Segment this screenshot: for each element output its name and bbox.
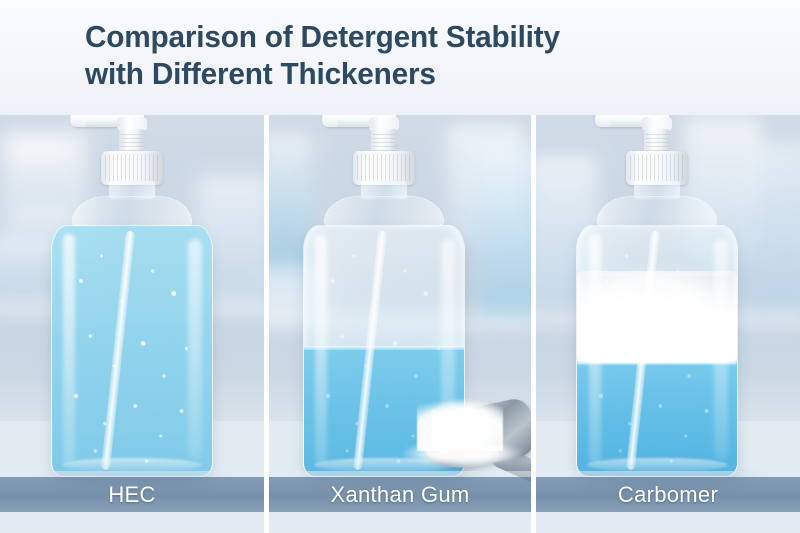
header-banner: Comparison of Detergent Stability with D…: [0, 0, 800, 115]
bottle-base-ring: [62, 458, 203, 472]
white-powder: [417, 397, 503, 451]
panel-hec[interactable]: HEC: [0, 115, 264, 533]
pump-bottle-hec[interactable]: [51, 225, 213, 477]
caption-bottom-highlight: [0, 512, 264, 519]
bottle-shoulder: [324, 196, 444, 227]
page-title: Comparison of Detergent Stability with D…: [85, 18, 709, 92]
pump-stem: [644, 129, 670, 153]
caption-bottom-highlight: [269, 512, 531, 519]
caption-label: Xanthan Gum: [330, 482, 469, 508]
pump-stem: [371, 129, 397, 153]
caption-hec: HEC: [0, 477, 264, 512]
glass-highlight-right: [714, 239, 728, 459]
panel-strip: HEC: [0, 115, 800, 533]
spilled-powder: [403, 445, 523, 467]
caption-label: HEC: [108, 482, 155, 508]
pump-collar: [101, 151, 163, 185]
glass-highlight-left: [63, 234, 75, 464]
glass-highlight-left: [589, 234, 601, 464]
caption-xanthan-gum: Xanthan Gum: [269, 477, 531, 512]
bottle-body: [51, 225, 213, 477]
panel-carbomer[interactable]: Carbomer: [536, 115, 800, 533]
glass-highlight-left: [315, 234, 327, 464]
bottle-base-ring: [587, 458, 728, 472]
pump-collar: [626, 151, 688, 185]
bottle-shoulder: [597, 196, 717, 227]
glass-highlight-right: [188, 239, 202, 459]
caption-carbomer: Carbomer: [536, 477, 800, 512]
bottle-shoulder: [72, 196, 192, 227]
bottle-body: [576, 225, 738, 477]
pump-collar: [353, 151, 415, 185]
powder-scoop: [409, 389, 529, 481]
comparison-infographic: Comparison of Detergent Stability with D…: [0, 0, 800, 533]
caption-label: Carbomer: [618, 482, 718, 508]
pump-bottle-carbomer[interactable]: [576, 225, 738, 477]
caption-bottom-highlight: [536, 512, 800, 519]
pump-stem: [119, 129, 145, 153]
panel-xanthan-gum[interactable]: Xanthan Gum: [269, 115, 531, 533]
